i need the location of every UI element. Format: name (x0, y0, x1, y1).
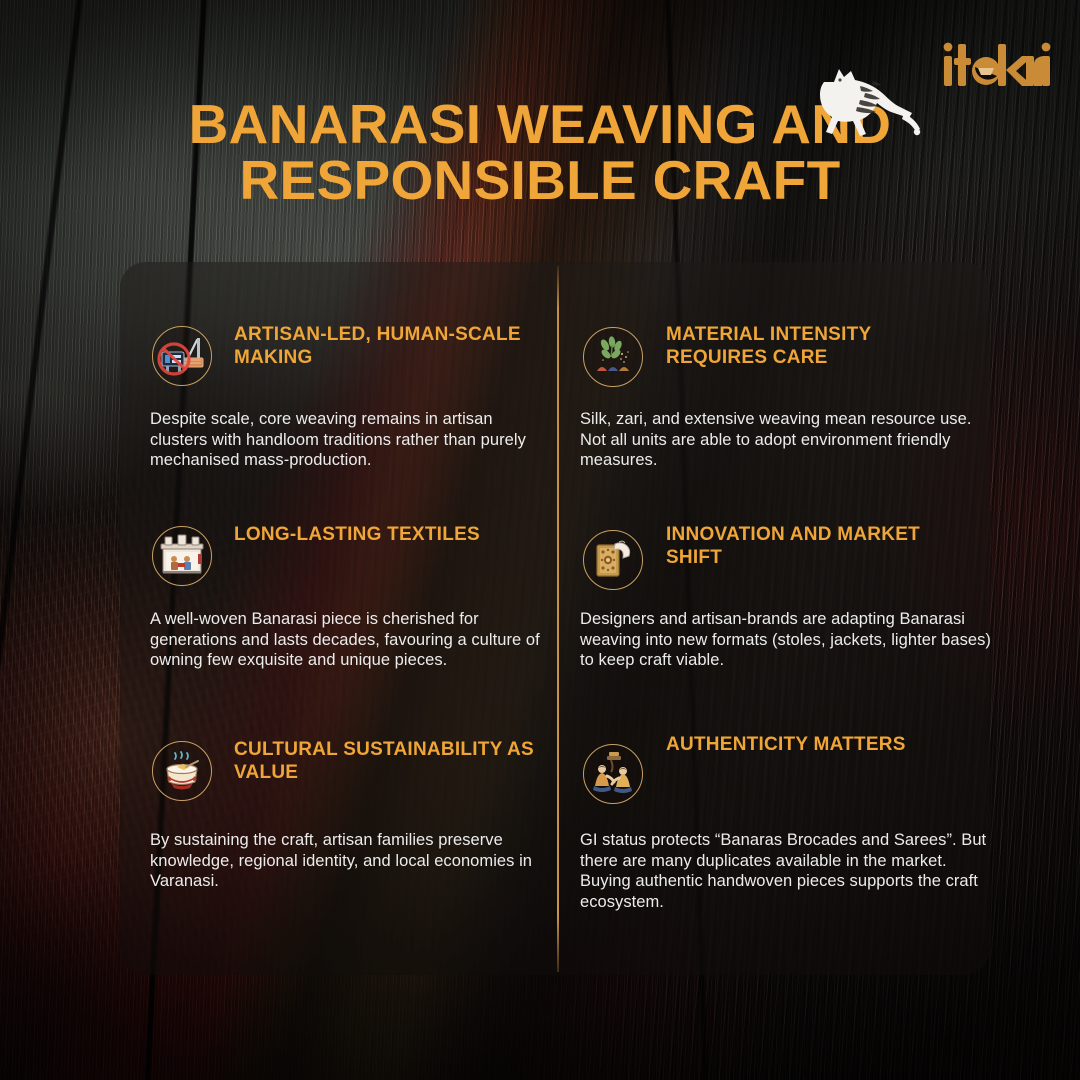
natural-dye-leaves-powder-icon (583, 327, 643, 387)
two-seated-artisans-icon (583, 744, 643, 804)
infographic-poster: BANARASI WEAVING AND RESPONSIBLE CRAFT (0, 0, 1080, 1080)
card-title: MATERIAL INTENSITY REQUIRES CARE (666, 324, 976, 369)
poster-header: BANARASI WEAVING AND RESPONSIBLE CRAFT (0, 0, 1080, 250)
card-title: LONG-LASTING TEXTILES (234, 524, 534, 547)
dye-pot-steaming-icon (152, 741, 212, 801)
card-title: CULTURAL SUSTAINABILITY AS VALUE (234, 739, 534, 784)
card-body: By sustaining the craft, artisan familie… (150, 830, 548, 892)
card-title: AUTHENTICITY MATTERS (666, 734, 976, 757)
column-divider (557, 266, 559, 972)
card-body: Silk, zari, and extensive weaving mean r… (580, 409, 992, 471)
card-body: Designers and artisan-brands are adaptin… (580, 609, 992, 671)
page-title-line-2: RESPONSIBLE CRAFT (0, 152, 1080, 208)
leaping-cat-icon (816, 52, 926, 144)
card-title: INNOVATION AND MARKET SHIFT (666, 524, 976, 569)
card-body: A well-woven Banarasi piece is cherished… (150, 609, 548, 671)
itokri-logo[interactable] (942, 40, 1052, 92)
card-title: ARTISAN-LED, HUMAN-SCALE MAKING (234, 324, 534, 369)
hand-holding-brocade-swatch-icon (583, 530, 643, 590)
card-body: GI status protects “Banaras Brocades and… (580, 830, 992, 912)
no-mass-production-machine-icon (152, 326, 212, 386)
card-body: Despite scale, core weaving remains in a… (150, 409, 548, 471)
textile-shop-storefront-icon (152, 526, 212, 586)
